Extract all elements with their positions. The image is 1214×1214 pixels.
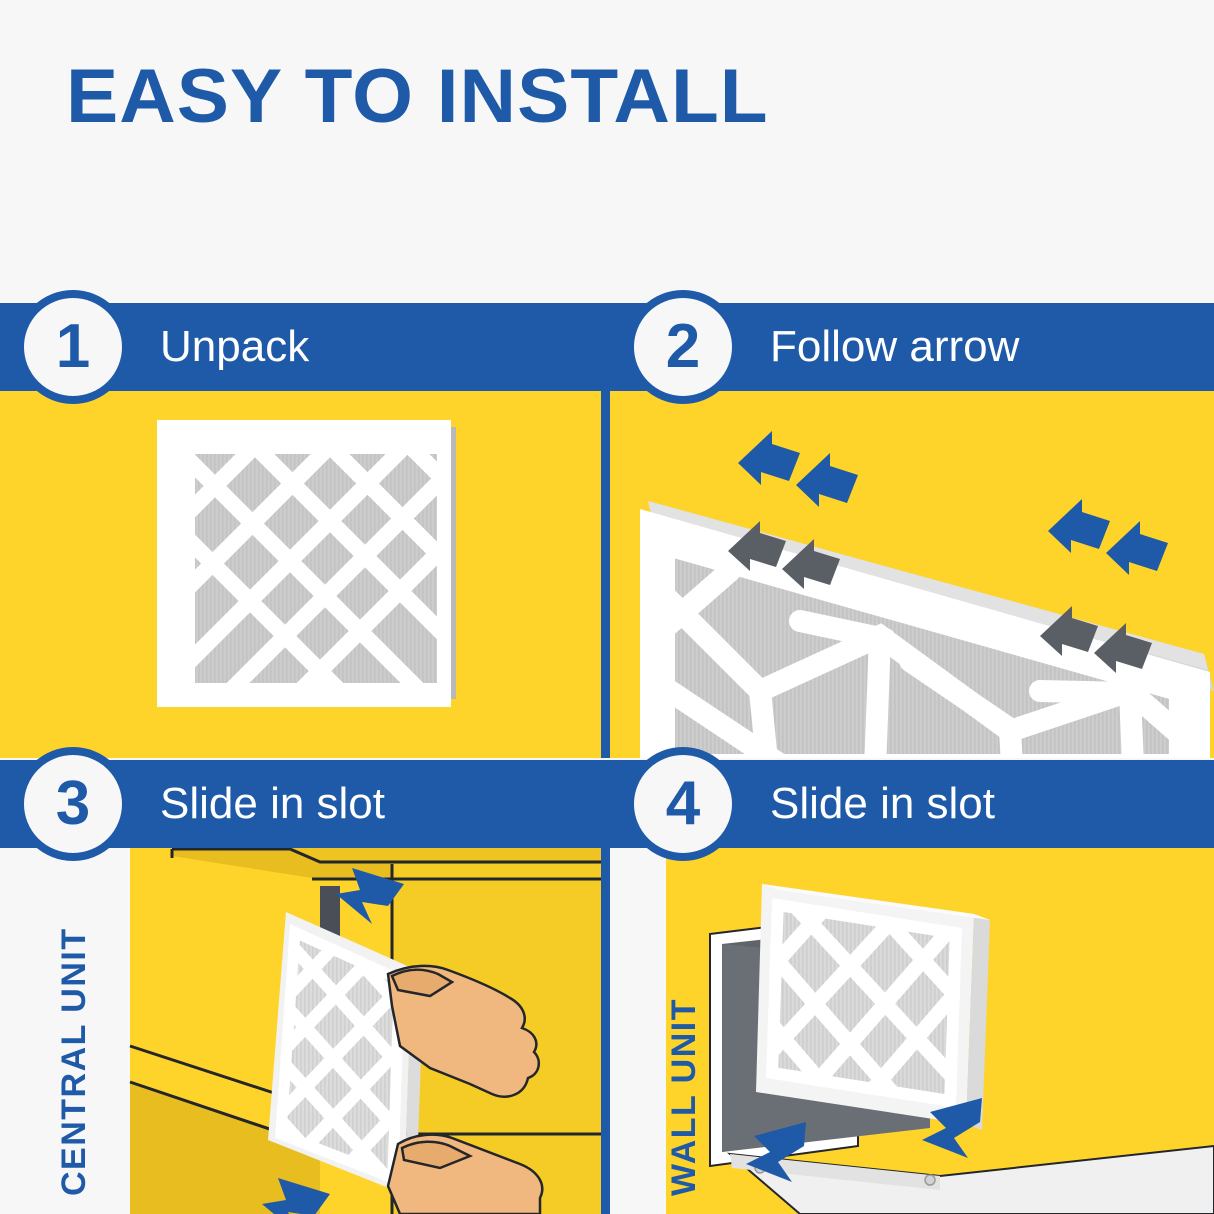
step-label-2: Follow arrow [770,324,1019,370]
column-divider-top [601,303,610,758]
infographic-canvas: EASY TO INSTALL [0,0,1214,1214]
step-number-badge-4: 4 [626,747,740,861]
step-panel-1 [0,391,601,758]
step-label-3: Slide in slot [160,781,385,827]
page-title: EASY TO INSTALL [66,58,769,136]
step-number-badge-2: 2 [626,290,740,404]
side-label-central-unit: CENTRAL UNIT [55,876,94,1196]
side-label-wall-unit: WALL UNIT [665,876,704,1196]
step-number-badge-1: 1 [16,290,130,404]
step-1-illustration [0,391,601,758]
tilted-filter-illustration [610,391,1214,758]
step-label-1: Unpack [160,324,309,370]
step-label-4: Slide in slot [770,781,995,827]
column-divider-bottom [601,760,610,1214]
airflow-arrow-blue-right [1048,499,1168,575]
step-panel-2 [610,391,1214,758]
flat-filter-illustration [0,391,601,758]
step-2-illustration [610,391,1214,758]
step-number-badge-3: 3 [16,747,130,861]
airflow-arrow-blue-left [738,431,858,507]
